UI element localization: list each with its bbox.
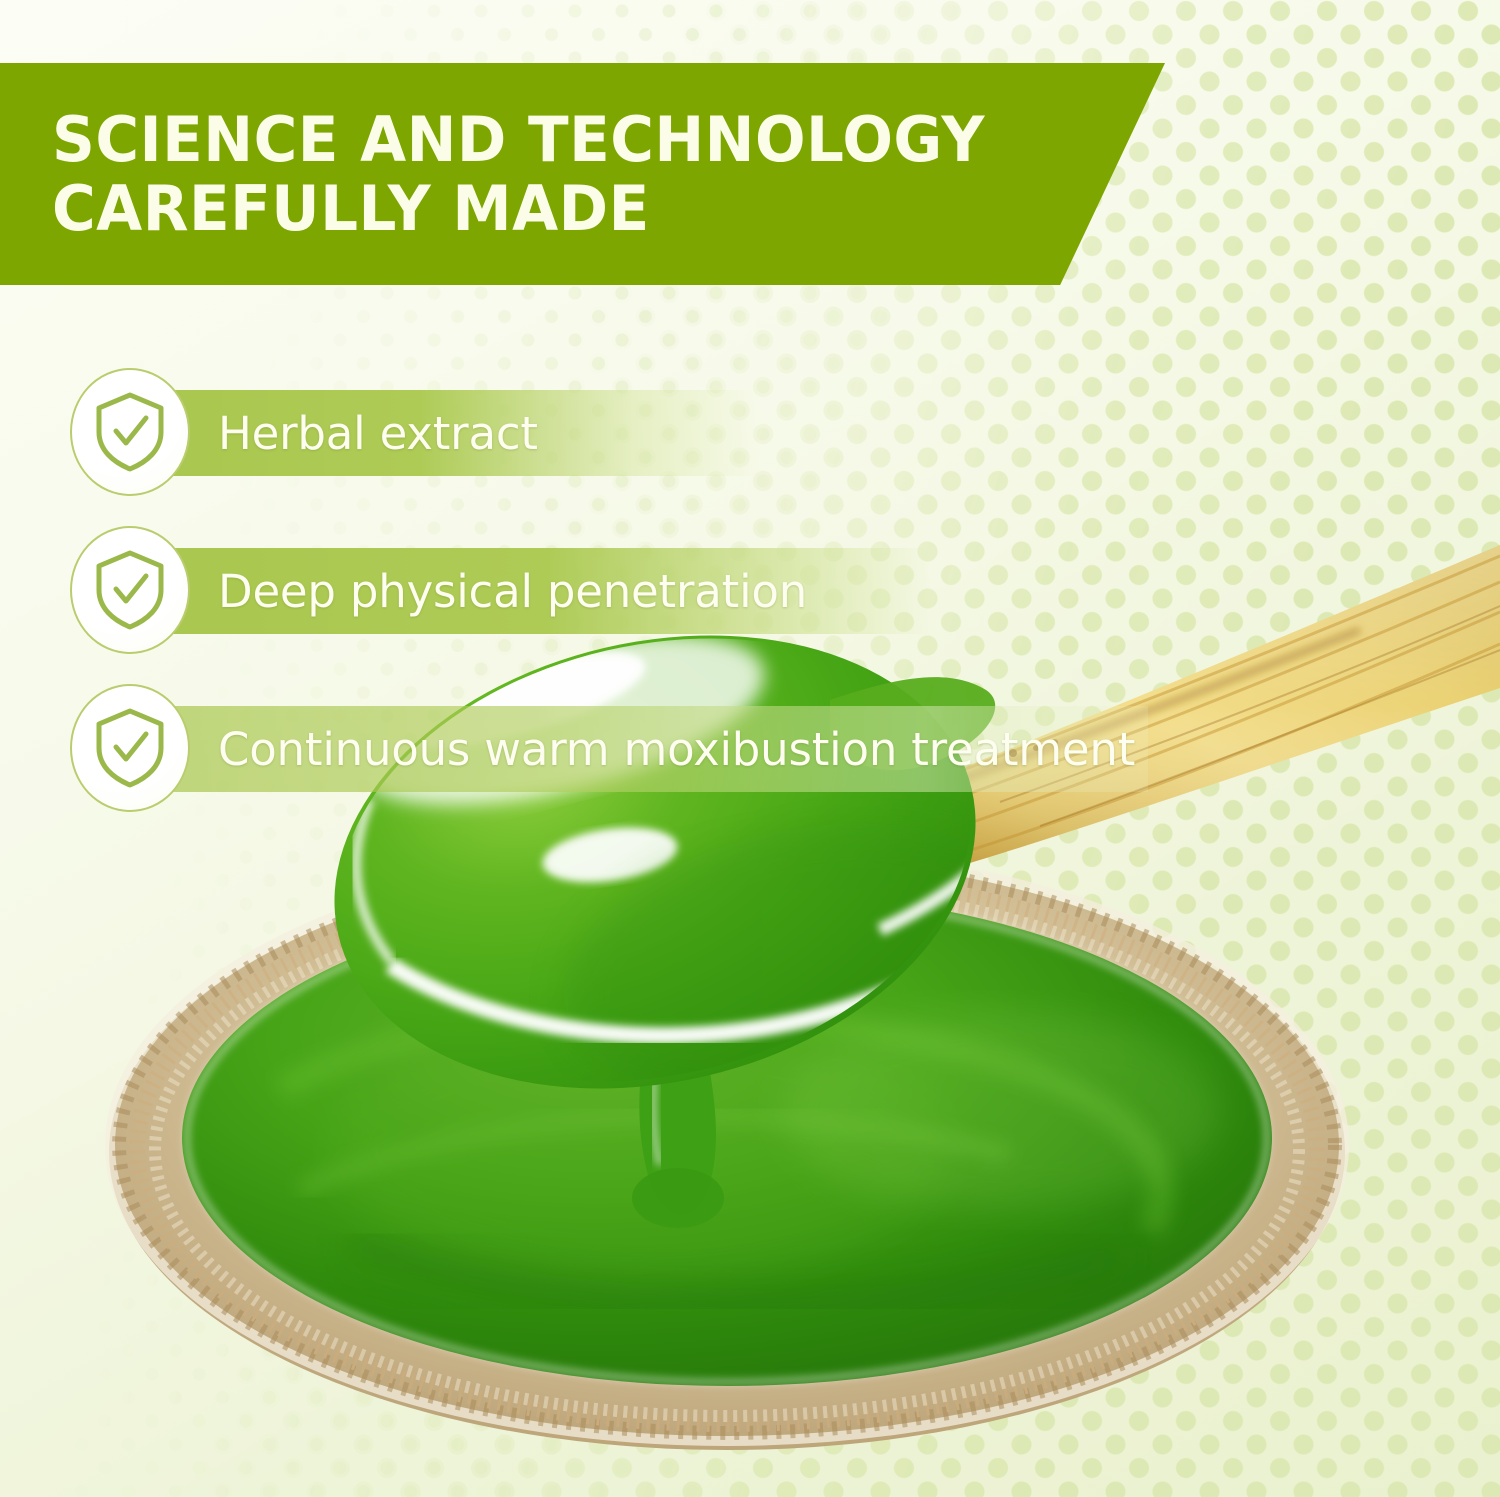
feature-list: Herbal extract Deep physical penetration — [0, 368, 1500, 842]
feature-item-deep-physical-penetration: Deep physical penetration — [0, 526, 1500, 656]
headline-line-2: CAREFULLY MADE — [52, 174, 1120, 243]
feature-label: Herbal extract — [218, 407, 538, 460]
headline-banner: SCIENCE AND TECHNOLOGY CAREFULLY MADE — [0, 63, 1165, 285]
shield-check-icon — [70, 368, 190, 496]
feature-item-herbal-extract: Herbal extract — [0, 368, 1500, 498]
feature-item-continuous-warm-moxibustion-treatment: Continuous warm moxibustion treatment — [0, 684, 1500, 814]
paste-drip — [632, 1000, 724, 1228]
feature-label: Continuous warm moxibustion treatment — [218, 723, 1135, 776]
headline-line-1: SCIENCE AND TECHNOLOGY — [52, 105, 1120, 174]
feature-label: Deep physical penetration — [218, 565, 807, 618]
ceramic-dish — [109, 849, 1345, 1450]
shield-check-icon — [70, 526, 190, 654]
shield-check-icon — [70, 684, 190, 812]
product-feature-poster: SCIENCE AND TECHNOLOGY CAREFULLY MADE He… — [0, 0, 1500, 1497]
